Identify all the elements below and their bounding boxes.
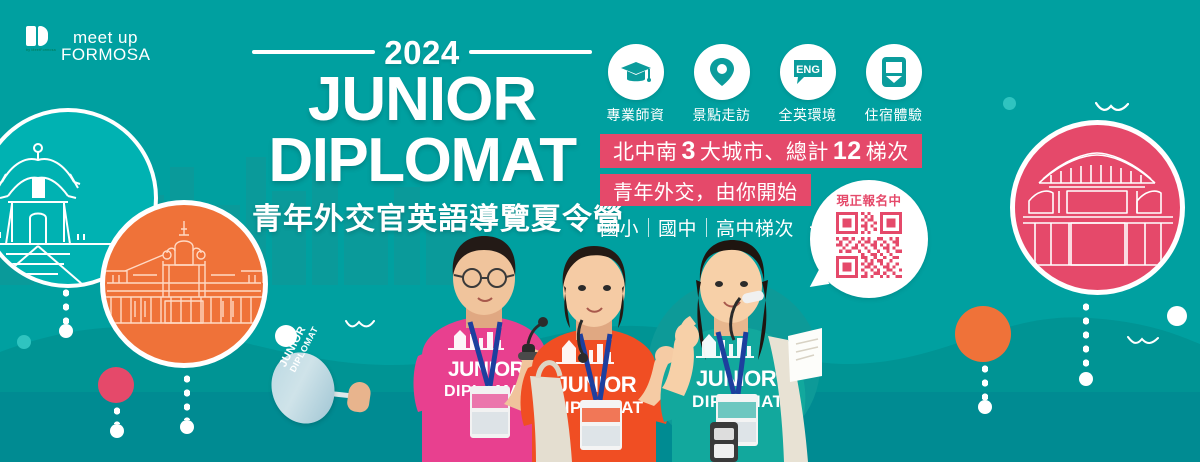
hanging-dot-line [114, 390, 120, 424]
feature-item-accommodation[interactable]: 住宿體驗 [858, 44, 929, 125]
feature-item-english[interactable]: ENG 全英環境 [772, 44, 843, 125]
feature-list: 專業師資 景點走訪 ENG 全英環境 [600, 44, 929, 125]
graduation-cap-icon [608, 44, 664, 100]
qr-title-text: 現正報名中 [836, 190, 901, 209]
seagull-icon [1127, 334, 1159, 349]
feature-label: 景點走訪 [686, 105, 757, 125]
feature-label: 全英環境 [772, 105, 843, 125]
info-sessions-count: 12 [829, 137, 866, 166]
main-title-block: 2024 JUNIOR DIPLOMAT 青年外交官英語導覽夏令營 [252, 34, 592, 238]
decor-circle-pink [98, 367, 134, 403]
title-line-junior: JUNIOR [252, 70, 592, 131]
title-line-diplomat: DIPLOMAT [252, 131, 592, 192]
grade-separator [706, 218, 707, 237]
seagull-icon [1095, 100, 1129, 116]
student-right: JUNIOR DIPLOMAT [661, 240, 822, 462]
year-label: 2024 [384, 36, 459, 69]
location-pin-icon [694, 44, 750, 100]
grade-separator [648, 218, 649, 237]
meetup-formosa-mark-icon: by MeetFormosa [26, 26, 52, 50]
logo-tagline: by MeetFormosa [26, 48, 56, 52]
info-cities-pre: 北中南 [613, 136, 678, 166]
brand-logo[interactable]: by MeetFormosa meet up FORMOSA [26, 26, 171, 66]
historic-station-building-circle [100, 200, 268, 368]
paper-sheets [788, 328, 822, 382]
subtitle-chinese: 青年外交官英語導覽夏令營 [252, 194, 592, 238]
info-banner-slogan: 青年外交，由你開始 [600, 174, 811, 206]
decor-circle-teal [17, 335, 31, 349]
accommodation-bed-icon [866, 44, 922, 100]
hanging-dot-line [982, 362, 988, 400]
decor-circle-teal [1003, 97, 1016, 110]
decor-circle-white [1167, 306, 1187, 326]
eng-speech-bubble-icon: ENG [780, 44, 836, 100]
traditional-gate-circle [1010, 120, 1185, 295]
info-cities-mid: 大城市、總計 [700, 136, 829, 166]
logo-word-line2: FORMOSA [61, 45, 151, 64]
eng-badge-text: ENG [796, 64, 820, 76]
feature-item-teachers[interactable]: 專業師資 [600, 44, 671, 125]
feature-label: 專業師資 [600, 105, 671, 125]
rule-right [469, 50, 592, 54]
rule-left [252, 50, 375, 54]
feature-item-sightseeing[interactable]: 景點走訪 [686, 44, 757, 125]
info-sessions-unit: 梯次 [866, 136, 909, 166]
hand-holding-paddle [346, 381, 372, 414]
info-banner-cities: 北中南 3 大城市、總計 12 梯次 [600, 134, 922, 168]
promo-banner: by MeetFormosa meet up FORMOSA 2024 JUNI… [0, 0, 1200, 462]
students-photo-group: JUNIOR DIPLOMAT [404, 236, 822, 462]
seagull-icon [345, 318, 375, 332]
logo-wordmark: meet up FORMOSA [61, 26, 171, 66]
slogan-text: 青年外交，由你開始 [613, 176, 798, 205]
hanging-dot-line [1083, 300, 1089, 372]
qr-code-image[interactable] [836, 212, 902, 278]
feature-label: 住宿體驗 [858, 105, 929, 125]
junior-diplomat-paddle-sign: JUNIOR DIPLOMAT [272, 352, 334, 424]
qr-registration-bubble[interactable]: 現正報名中 [810, 180, 928, 298]
decor-circle-orange [955, 306, 1011, 362]
hanging-dot-line [184, 372, 190, 420]
info-cities-count: 3 [678, 137, 700, 166]
